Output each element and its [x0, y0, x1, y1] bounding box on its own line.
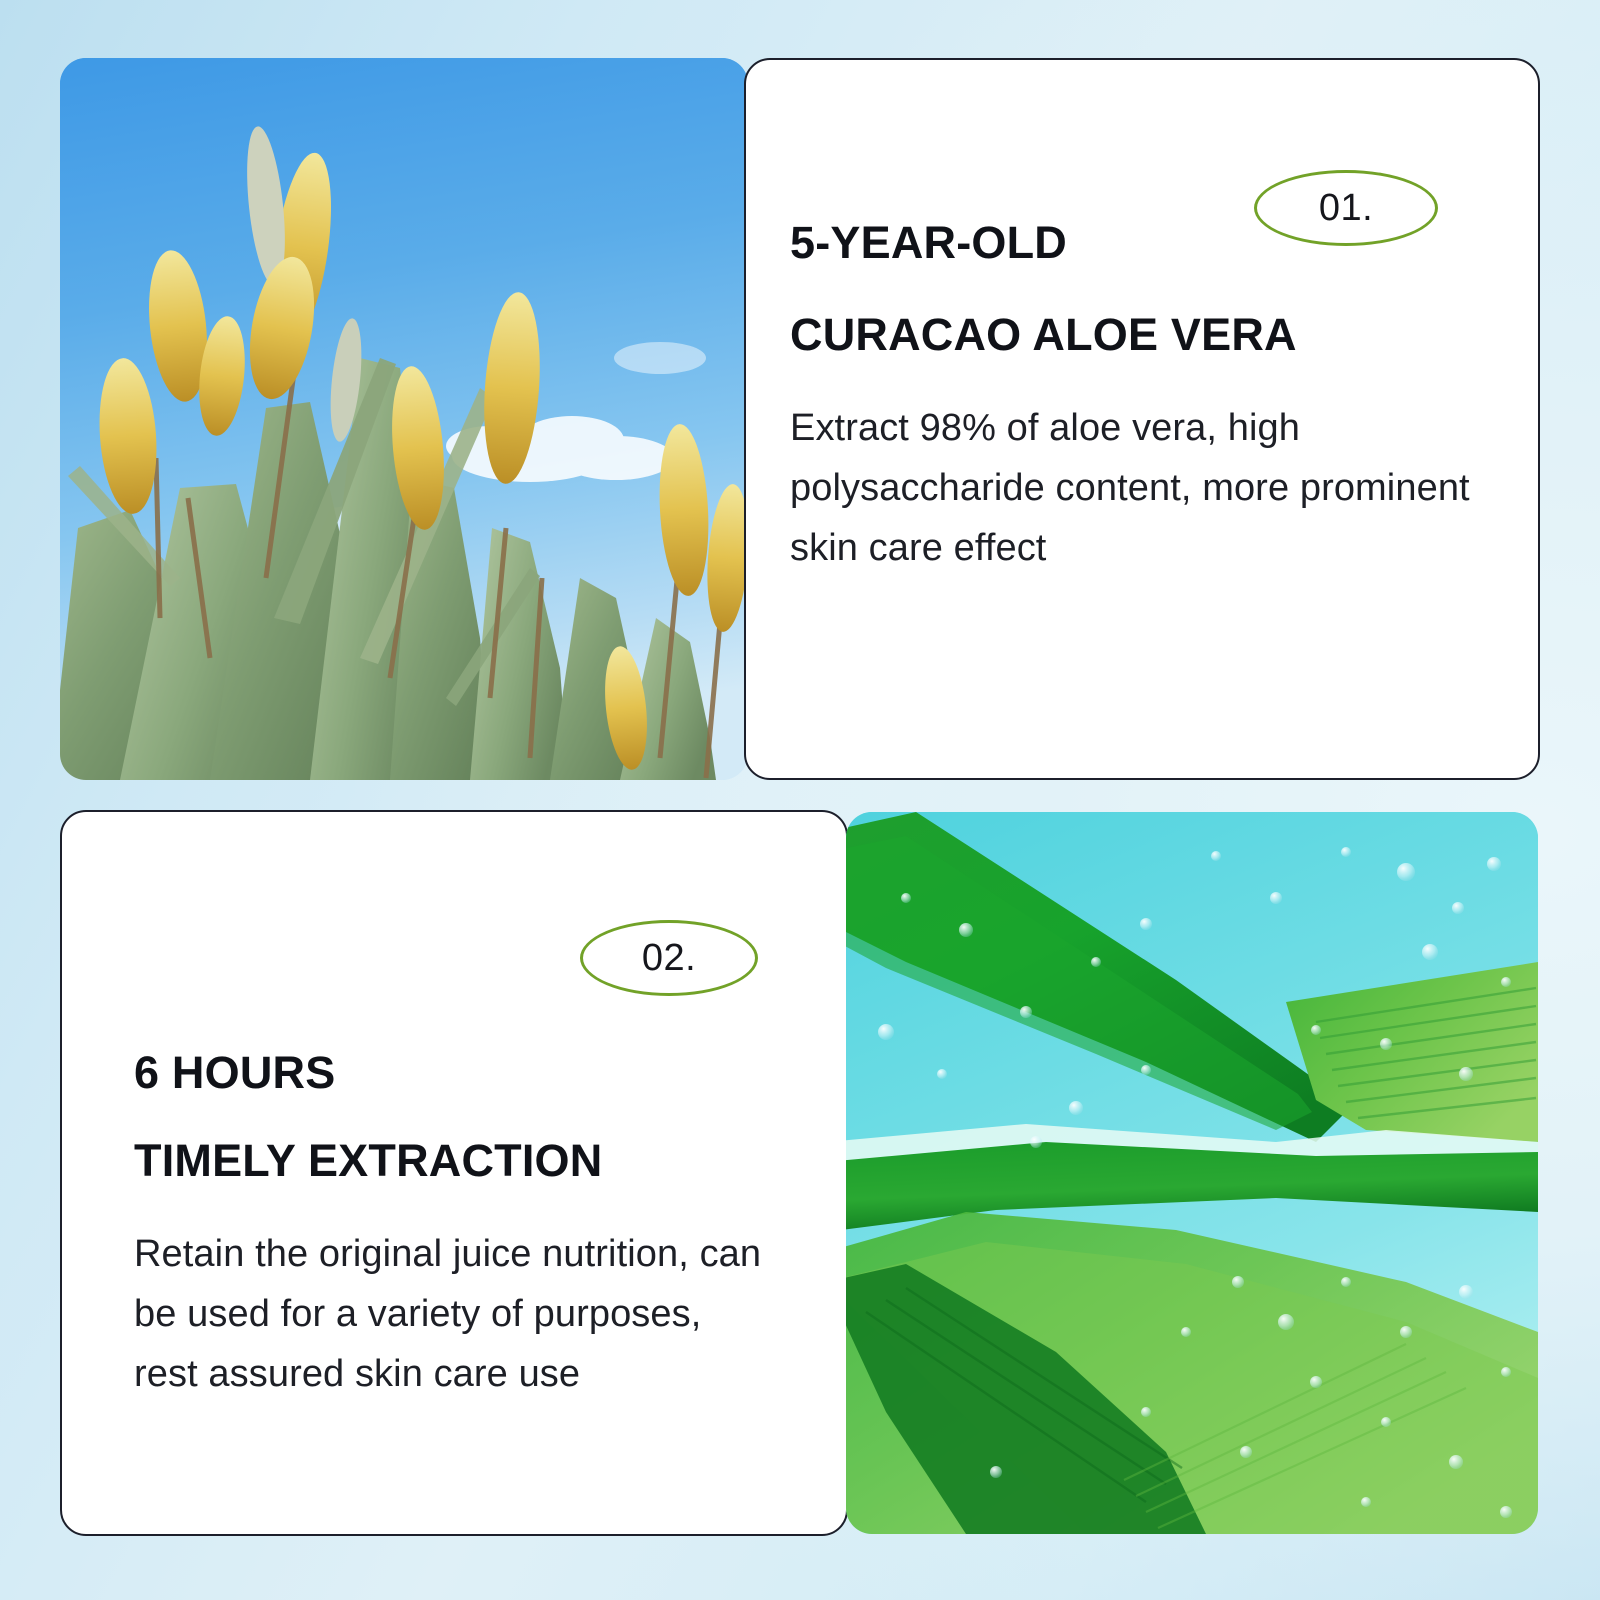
card-01-heading-line1: 5-YEAR-OLD [790, 220, 1067, 265]
card-01-heading-line2: CURACAO ALOE VERA [790, 312, 1297, 357]
feature-card-02: 02. 6 HOURS TIMELY EXTRACTION Retain the… [60, 810, 848, 1536]
step-number-badge-02: 02. [580, 920, 758, 996]
infographic-page: 01. 5-YEAR-OLD CURACAO ALOE VERA Extract… [0, 0, 1600, 1600]
card-01-description: Extract 98% of aloe vera, high polysacch… [790, 398, 1490, 578]
step-number-badge-01: 01. [1254, 170, 1438, 246]
aloe-gel-artwork [846, 812, 1538, 1534]
card-02-heading-line1: 6 HOURS [134, 1050, 335, 1095]
aloe-field-artwork [60, 58, 748, 780]
card-02-description: Retain the original juice nutrition, can… [134, 1224, 774, 1404]
aloe-gel-photo [846, 812, 1538, 1534]
card-02-heading-line2: TIMELY EXTRACTION [134, 1138, 602, 1183]
aloe-field-photo [60, 58, 748, 780]
feature-card-01: 01. 5-YEAR-OLD CURACAO ALOE VERA Extract… [744, 58, 1540, 780]
